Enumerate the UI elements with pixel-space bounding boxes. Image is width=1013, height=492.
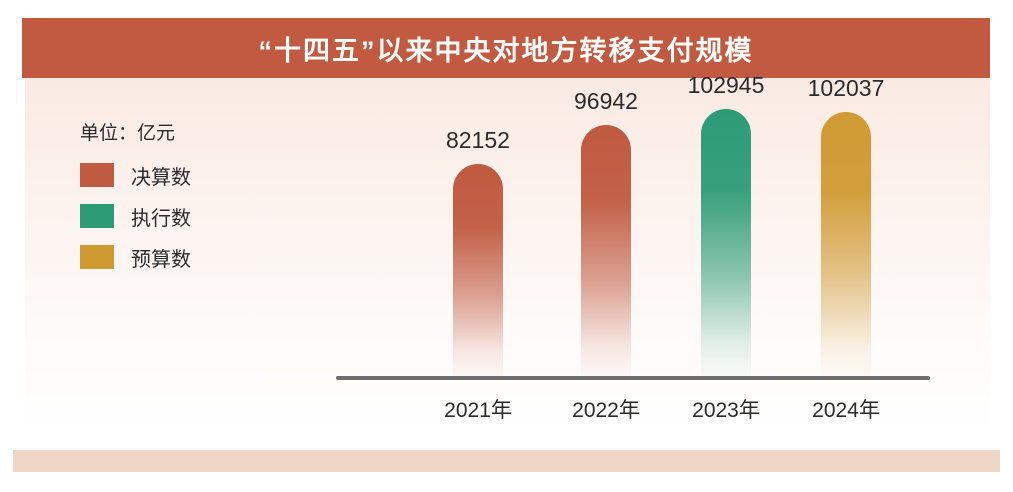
chart-panel: 单位：亿元 决算数 执行数 预算数 82152 2021年 96942 [25, 78, 990, 430]
bar-2021 [453, 164, 503, 378]
x-axis-line [336, 376, 930, 380]
chart-title-bar: “十四五”以来中央对地方转移支付规模 [22, 18, 990, 78]
legend-unit-label: 单位：亿元 [80, 118, 300, 145]
bar-value-2024: 102037 [784, 75, 908, 102]
bar-value-2021: 82152 [416, 127, 540, 154]
page-title: “十四五”以来中央对地方转移支付规模 [259, 29, 754, 68]
legend-label-yusuanshu: 预算数 [131, 243, 191, 272]
bar-category-2021: 2021年 [416, 394, 540, 424]
bar-value-2023: 102945 [664, 72, 788, 99]
bar-2024 [821, 112, 871, 378]
bar-group-2024: 102037 2024年 [784, 78, 908, 380]
legend-label-juesuanshu: 决算数 [131, 161, 191, 190]
infographic-chart-card: “十四五”以来中央对地方转移支付规模 单位：亿元 决算数 执行数 预算数 821… [0, 0, 1013, 492]
footer-band [13, 450, 1000, 472]
bar-group-2021: 82152 2021年 [416, 78, 540, 380]
legend-swatch-red [80, 163, 114, 187]
bar-2022 [581, 125, 631, 378]
legend-item-juesuanshu: 决算数 [80, 163, 300, 187]
bar-category-2024: 2024年 [784, 394, 908, 424]
bar-value-2022: 96942 [544, 88, 668, 115]
plot-area: 82152 2021年 96942 2022年 102945 2023年 102… [336, 78, 956, 430]
bar-group-2023: 102945 2023年 [664, 78, 788, 380]
bar-category-2023: 2023年 [664, 394, 788, 424]
legend-item-yusuanshu: 预算数 [80, 245, 300, 269]
legend-swatch-green [80, 204, 114, 228]
legend-swatch-gold [80, 245, 114, 269]
bar-2023 [701, 109, 751, 378]
bar-category-2022: 2022年 [544, 394, 668, 424]
legend-item-zhixingshu: 执行数 [80, 204, 300, 228]
chart-legend: 单位：亿元 决算数 执行数 预算数 [80, 118, 300, 286]
bar-group-2022: 96942 2022年 [544, 78, 668, 380]
legend-label-zhixingshu: 执行数 [131, 202, 191, 231]
